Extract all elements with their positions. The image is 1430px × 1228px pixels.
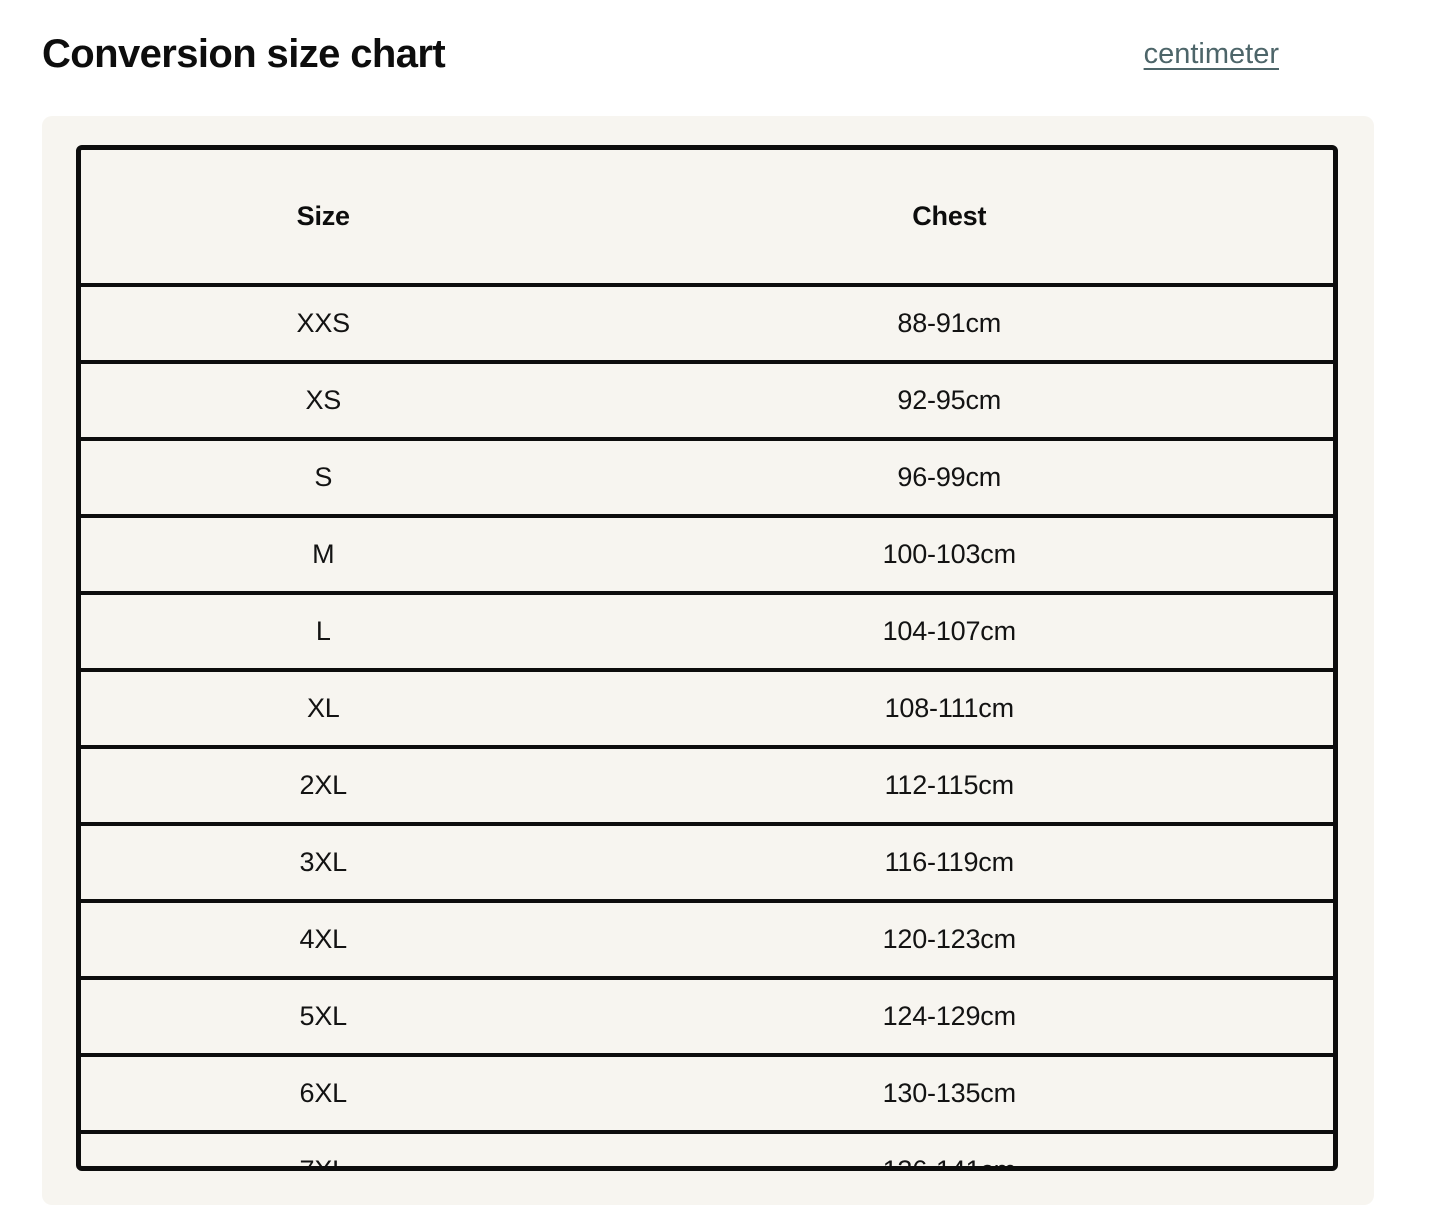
cell-size: XS [81, 362, 566, 439]
cell-chest: 108-111cm [566, 670, 1333, 747]
table-row: 4XL120-123cm [81, 901, 1333, 978]
table-row: XL108-111cm [81, 670, 1333, 747]
cell-chest: 88-91cm [566, 285, 1333, 362]
cell-size: 4XL [81, 901, 566, 978]
table-row: L104-107cm [81, 593, 1333, 670]
cell-chest: 100-103cm [566, 516, 1333, 593]
table-row: S96-99cm [81, 439, 1333, 516]
column-header-size: Size [81, 150, 566, 285]
cell-chest: 104-107cm [566, 593, 1333, 670]
cell-chest: 96-99cm [566, 439, 1333, 516]
column-header-chest: Chest [566, 150, 1333, 285]
cell-size: XXS [81, 285, 566, 362]
cell-chest: 120-123cm [566, 901, 1333, 978]
page-title: Conversion size chart [42, 30, 445, 78]
cell-size: 2XL [81, 747, 566, 824]
cell-chest: 130-135cm [566, 1055, 1333, 1132]
size-chart-panel: Size Chest XXS88-91cmXS92-95cmS96-99cmM1… [42, 116, 1374, 1205]
table-row: 2XL112-115cm [81, 747, 1333, 824]
cell-chest: 136-141cm [566, 1132, 1333, 1171]
cell-size: 3XL [81, 824, 566, 901]
size-chart-table: Size Chest XXS88-91cmXS92-95cmS96-99cmM1… [81, 150, 1333, 1171]
cell-chest: 112-115cm [566, 747, 1333, 824]
table-row: 7XL136-141cm [81, 1132, 1333, 1171]
cell-chest: 124-129cm [566, 978, 1333, 1055]
table-header: Size Chest [81, 150, 1333, 285]
cell-size: M [81, 516, 566, 593]
size-chart-table-wrapper: Size Chest XXS88-91cmXS92-95cmS96-99cmM1… [76, 145, 1338, 1171]
cell-size: S [81, 439, 566, 516]
table-row: XXS88-91cm [81, 285, 1333, 362]
cell-size: L [81, 593, 566, 670]
table-row: 3XL116-119cm [81, 824, 1333, 901]
cell-chest: 116-119cm [566, 824, 1333, 901]
size-chart-page: Conversion size chart centimeter Size Ch… [0, 0, 1430, 1228]
cell-size: 6XL [81, 1055, 566, 1132]
page-header: Conversion size chart centimeter [0, 0, 1430, 116]
unit-toggle-link[interactable]: centimeter [1144, 36, 1279, 72]
cell-chest: 92-95cm [566, 362, 1333, 439]
table-row: 5XL124-129cm [81, 978, 1333, 1055]
table-body: XXS88-91cmXS92-95cmS96-99cmM100-103cmL10… [81, 285, 1333, 1171]
table-row: XS92-95cm [81, 362, 1333, 439]
cell-size: 5XL [81, 978, 566, 1055]
cell-size: XL [81, 670, 566, 747]
cell-size: 7XL [81, 1132, 566, 1171]
table-row: M100-103cm [81, 516, 1333, 593]
table-header-row: Size Chest [81, 150, 1333, 285]
table-row: 6XL130-135cm [81, 1055, 1333, 1132]
